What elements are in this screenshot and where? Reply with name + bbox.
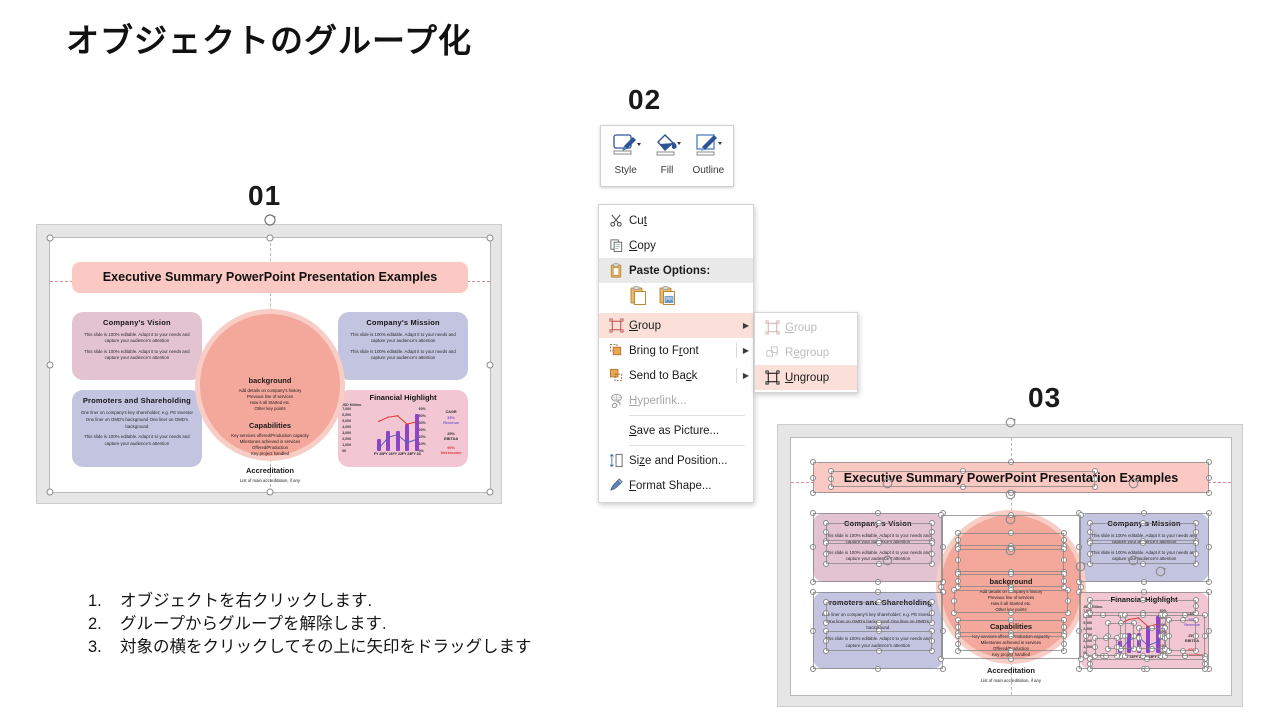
selection-handle[interactable]: [823, 520, 829, 526]
circle-section-heading: Accreditation: [987, 666, 1035, 675]
mini-toolbar-style-label: Style: [615, 165, 637, 176]
selection-handle[interactable]: [1092, 484, 1098, 490]
selection-handle[interactable]: [810, 475, 816, 481]
card-heading: Company's Mission: [345, 318, 461, 327]
rotate-handle[interactable]: [881, 554, 895, 568]
selection-handle[interactable]: [1114, 635, 1120, 641]
selection-handle[interactable]: [1149, 646, 1155, 652]
circle-section-lines: List of main accreditation, if any: [981, 678, 1041, 684]
group-submenu[interactable]: Group Regroup Ungroup: [754, 312, 858, 393]
selection-handle[interactable]: [828, 476, 834, 482]
context-menu-item-paste-options: Paste Options:: [599, 258, 753, 283]
rotate-handle[interactable]: [1004, 488, 1018, 502]
selection-handle[interactable]: [1061, 578, 1067, 584]
menu-separator: [629, 445, 745, 446]
selection-handle[interactable]: [823, 529, 829, 535]
selection-handle[interactable]: [929, 551, 935, 557]
selection-handle[interactable]: [1105, 620, 1111, 626]
selection-handle[interactable]: [47, 362, 54, 369]
clipboard-icon: [603, 263, 629, 279]
selection-handle[interactable]: [875, 589, 881, 595]
selection-handle[interactable]: [1193, 610, 1199, 616]
card-paragraph: This slide is 100% editable. Adapt it to…: [345, 349, 461, 362]
selection-handle[interactable]: [940, 666, 946, 672]
selection-handle[interactable]: [810, 579, 816, 585]
selection-handle[interactable]: [955, 641, 961, 647]
selection-handle[interactable]: [1122, 653, 1128, 659]
selection-handle[interactable]: [1182, 653, 1188, 659]
chart-legend-entry: 35%: [434, 416, 468, 420]
selection-handle[interactable]: [1105, 646, 1111, 652]
size-position-icon: [603, 453, 629, 468]
card-paragraph: This slide is 100% editable. Adapt it to…: [79, 349, 195, 362]
selection-handle[interactable]: [876, 540, 882, 546]
chevron-right-icon: ▶: [739, 346, 753, 355]
rotate-handle[interactable]: [1127, 477, 1141, 491]
menu-divider: [736, 368, 737, 383]
selection-handle[interactable]: [1008, 648, 1014, 654]
selection-handle[interactable]: [955, 578, 961, 584]
submenu-label-regroup: Regroup: [785, 347, 829, 359]
selection-handle[interactable]: [1092, 635, 1098, 641]
context-menu[interactable]: Cut Copy Paste Options:: [598, 204, 754, 503]
instruction-list: 1. オブジェクトを右クリックします. 2. グループからグループを解除します.…: [88, 590, 648, 658]
selection-handle[interactable]: [1140, 597, 1146, 603]
slide-thumbnail-ungrouped[interactable]: Executive Summary PowerPoint Presentatio…: [777, 424, 1243, 707]
chart-legend-entry: CAGR: [434, 410, 468, 414]
selection-handle[interactable]: [876, 520, 882, 526]
selection-handle[interactable]: [823, 561, 829, 567]
paste-options-row[interactable]: [599, 283, 753, 313]
selection-handle[interactable]: [1087, 597, 1093, 603]
selection-handle[interactable]: [1206, 490, 1212, 496]
selection-handle[interactable]: [810, 510, 816, 516]
selection-handle[interactable]: [1193, 561, 1199, 567]
list-item-number: 1.: [88, 590, 120, 613]
shape-style-icon: [611, 132, 641, 163]
card-heading: Promoters and Shareholding: [79, 396, 195, 405]
selection-handle[interactable]: [828, 468, 834, 474]
selection-handle[interactable]: [1061, 571, 1067, 577]
selection-handle[interactable]: [1206, 510, 1212, 516]
selection-handle[interactable]: [1061, 641, 1067, 647]
selection-handle[interactable]: [955, 633, 961, 639]
menu-divider: [736, 343, 737, 358]
selection-handle[interactable]: [955, 571, 961, 577]
selection-handle[interactable]: [823, 648, 829, 654]
selection-handle[interactable]: [955, 617, 961, 623]
list-item-text: オブジェクトを右クリックします.: [120, 590, 648, 613]
selection-handle[interactable]: [487, 362, 494, 369]
rotate-handle[interactable]: [1127, 554, 1141, 568]
format-shape-icon: [603, 478, 629, 493]
context-menu-label-paste-options: Paste Options:: [629, 265, 753, 277]
selection-handle[interactable]: [1114, 653, 1120, 659]
context-menu-label-hyperlink: Hyperlink...: [629, 395, 753, 407]
bring-front-icon: [603, 343, 629, 358]
selection-handle[interactable]: [929, 638, 935, 644]
selection-handle[interactable]: [876, 620, 882, 626]
selection-handle[interactable]: [1076, 666, 1082, 672]
selection-handle[interactable]: [1193, 648, 1199, 654]
selection-handle[interactable]: [938, 584, 944, 590]
selection-handle[interactable]: [929, 610, 935, 616]
selection-handle[interactable]: [1083, 612, 1089, 618]
selection-handle[interactable]: [875, 579, 881, 585]
slide-canvas: Executive Summary PowerPoint Presentatio…: [49, 237, 491, 493]
selection-handle[interactable]: [810, 589, 816, 595]
selection-handle[interactable]: [1092, 468, 1098, 474]
chart-legend-entry: 90%: [434, 446, 468, 450]
card-paragraph: This slide is 100% editable. Adapt it to…: [820, 636, 936, 649]
financial-chart: Financial HighlightUSD Million.001,0002,…: [338, 390, 468, 466]
chevron-right-icon: ▶: [739, 321, 753, 330]
submenu-label-group: Group: [785, 322, 817, 334]
selection-handle[interactable]: [1061, 546, 1067, 552]
card-company-mission[interactable]: Company's MissionThis slide is 100% edit…: [338, 312, 468, 381]
selection-handle[interactable]: [1202, 666, 1208, 672]
context-menu-item-save-as-picture[interactable]: Save as Picture...: [599, 418, 753, 443]
selection-handle[interactable]: [929, 648, 935, 654]
selection-handle[interactable]: [951, 610, 957, 616]
selection-handle[interactable]: [1100, 612, 1106, 618]
selection-handle[interactable]: [1206, 475, 1212, 481]
submenu-item-group: Group: [755, 315, 857, 340]
selection-handle[interactable]: [1206, 628, 1212, 634]
selection-handle[interactable]: [929, 520, 935, 526]
selection-handle[interactable]: [955, 546, 961, 552]
selection-handle[interactable]: [951, 587, 957, 593]
list-item-number: 2.: [88, 613, 120, 636]
selection-handle[interactable]: [955, 557, 961, 563]
list-item-text: 対象の横をクリックしてその上に矢印をドラッグします: [120, 636, 648, 659]
selection-handle[interactable]: [1193, 633, 1199, 639]
selection-handle[interactable]: [876, 599, 882, 605]
selection-handle[interactable]: [929, 561, 935, 567]
context-menu-item-cut[interactable]: Cut: [599, 208, 753, 233]
mini-toolbar-outline-label: Outline: [692, 165, 724, 176]
context-menu-item-size-and-position[interactable]: Size and Position...: [599, 448, 753, 473]
chart-legend-entry: EBITDA: [434, 437, 468, 441]
submenu-label-ungroup: Ungroup: [785, 372, 829, 384]
selection-handle[interactable]: [1008, 617, 1014, 623]
chart-legend-entry: Revenue: [434, 421, 468, 425]
selection-handle[interactable]: [1193, 540, 1199, 546]
circle-section-lines: List of main accreditation, if any: [240, 478, 300, 484]
selection-handle[interactable]: [876, 628, 882, 634]
selection-handle[interactable]: [955, 624, 961, 630]
circle-section-heading: Capabilities: [249, 421, 291, 430]
selection-handle[interactable]: [929, 540, 935, 546]
selection-handle[interactable]: [1061, 537, 1067, 543]
selection-handle[interactable]: [810, 544, 816, 550]
selection-handle[interactable]: [1083, 633, 1089, 639]
selection-handle[interactable]: [823, 620, 829, 626]
chart-legend-entry: Net Income: [434, 451, 468, 455]
selection-handle[interactable]: [1076, 589, 1082, 595]
selection-handle[interactable]: [955, 530, 961, 536]
selection-handle[interactable]: [1193, 617, 1199, 623]
context-menu-item-hyperlink: Hyperlink...: [599, 388, 753, 413]
selection-handle[interactable]: [1065, 598, 1071, 604]
selection-handle[interactable]: [1136, 646, 1142, 652]
selection-handle[interactable]: [1166, 648, 1172, 654]
selection-handle[interactable]: [1144, 656, 1150, 662]
context-menu-label-size-and-position: Size and Position...: [629, 455, 753, 467]
selection-handle[interactable]: [1103, 653, 1109, 659]
selection-handle[interactable]: [1114, 644, 1120, 650]
chart-legend-entry: Revenue: [1175, 623, 1209, 627]
mini-toolbar[interactable]: Style Fill Outline: [600, 125, 734, 187]
selection-handle[interactable]: [47, 489, 54, 496]
selection-handle[interactable]: [828, 484, 834, 490]
card-promoters-shareholding[interactable]: Promoters and ShareholdingOne liner on c…: [72, 390, 202, 466]
selection-handle[interactable]: [1206, 589, 1212, 595]
card-paragraph: This slide is 100% editable. Adapt it to…: [79, 434, 195, 447]
selection-handle[interactable]: [1076, 544, 1082, 550]
list-item-text: グループからグループを解除します.: [120, 613, 648, 636]
selection-handle[interactable]: [929, 620, 935, 626]
list-item: 3. 対象の横をクリックしてその上に矢印をドラッグします: [88, 636, 648, 659]
selection-handle[interactable]: [940, 544, 946, 550]
selection-handle[interactable]: [1008, 459, 1014, 465]
rotate-handle[interactable]: [263, 213, 277, 227]
paste-picture-icon[interactable]: [658, 286, 677, 311]
selection-handle[interactable]: [929, 599, 935, 605]
chart-title: Financial Highlight: [338, 390, 468, 402]
fill-bucket-icon: [652, 132, 682, 163]
selection-handle[interactable]: [940, 589, 946, 595]
selection-handle[interactable]: [955, 648, 961, 654]
regroup-icon: [759, 345, 785, 360]
selection-handle[interactable]: [1193, 603, 1199, 609]
selection-handle[interactable]: [1087, 520, 1093, 526]
selection-handle[interactable]: [810, 666, 816, 672]
selection-handle[interactable]: [1008, 610, 1014, 616]
selection-handle[interactable]: [1118, 620, 1124, 626]
selection-handle[interactable]: [823, 638, 829, 644]
scissors-icon: [603, 213, 629, 228]
selection-handle[interactable]: [487, 489, 494, 496]
selection-handle[interactable]: [1061, 648, 1067, 654]
selection-handle[interactable]: [929, 628, 935, 634]
send-back-icon: [603, 368, 629, 383]
selection-handle[interactable]: [955, 537, 961, 543]
submenu-item-regroup: Regroup: [755, 340, 857, 365]
selection-handle[interactable]: [1008, 656, 1014, 662]
rotate-handle[interactable]: [1004, 544, 1018, 558]
rotate-handle[interactable]: [1154, 565, 1168, 579]
slide-canvas-ungrouped: Executive Summary PowerPoint Presentatio…: [790, 437, 1232, 696]
context-menu-item-group[interactable]: Group ▶: [599, 313, 753, 338]
selection-handle[interactable]: [951, 598, 957, 604]
context-menu-item-bring-to-front[interactable]: Bring to Front ▶: [599, 338, 753, 363]
selection-handle[interactable]: [1061, 617, 1067, 623]
selection-handle[interactable]: [1141, 579, 1147, 585]
selection-handle[interactable]: [1180, 617, 1186, 623]
selection-handle[interactable]: [1202, 612, 1208, 618]
chevron-right-icon: ▶: [739, 371, 753, 380]
chart-plot-area: USD Million.001,0002,0003,0004,0005,0006…: [338, 402, 468, 464]
rotate-handle[interactable]: [1004, 513, 1018, 527]
selection-handle[interactable]: [1065, 610, 1071, 616]
selection-handle[interactable]: [1141, 589, 1147, 595]
center-circle-shape[interactable]: backgroundAdd details on company's histo…: [200, 314, 341, 456]
context-menu-item-send-to-back[interactable]: Send to Back ▶: [599, 363, 753, 388]
selection-handle[interactable]: [875, 666, 881, 672]
selection-handle[interactable]: [1122, 633, 1128, 639]
selection-handle[interactable]: [960, 468, 966, 474]
selection-handle[interactable]: [823, 540, 829, 546]
selection-handle[interactable]: [1103, 635, 1109, 641]
selection-handle[interactable]: [487, 235, 494, 242]
menu-separator: [629, 415, 745, 416]
submenu-item-ungroup[interactable]: Ungroup: [755, 365, 857, 390]
selection-handle[interactable]: [1206, 459, 1212, 465]
hyperlink-icon: [603, 393, 629, 408]
context-menu-label-send-to-back: Send to Back: [629, 370, 739, 382]
selection-handle[interactable]: [1061, 624, 1067, 630]
slide-thumbnail-grouped[interactable]: Executive Summary PowerPoint Presentatio…: [36, 224, 502, 504]
list-item: 2. グループからグループを解除します.: [88, 613, 648, 636]
selection-handle[interactable]: [47, 235, 54, 242]
card-paragraph: This slide is 100% editable. Adapt it to…: [345, 332, 461, 345]
selection-handle[interactable]: [876, 648, 882, 654]
selection-handle[interactable]: [823, 628, 829, 634]
page-title: オブジェクトのグループ化: [66, 14, 472, 62]
selection-handle[interactable]: [1087, 529, 1093, 535]
selection-handle[interactable]: [1087, 666, 1093, 672]
selection-handle[interactable]: [1122, 612, 1128, 618]
selection-handle[interactable]: [1087, 603, 1093, 609]
copy-icon: [603, 238, 629, 253]
step-number-03: 03: [1028, 382, 1061, 414]
selection-handle[interactable]: [1078, 584, 1084, 590]
circle-section-lines: Add details on company's historyPrevious…: [239, 388, 302, 413]
group-icon: [759, 320, 785, 335]
circle-section-heading: background: [249, 376, 292, 385]
selection-handle[interactable]: [267, 235, 274, 242]
selection-handle[interactable]: [1202, 633, 1208, 639]
mini-toolbar-outline-button[interactable]: Outline: [688, 132, 729, 176]
selection-handle[interactable]: [1166, 617, 1172, 623]
selection-handle[interactable]: [1206, 579, 1212, 585]
selection-handle[interactable]: [1166, 633, 1172, 639]
context-menu-label-bring-to-front: Bring to Front: [629, 345, 739, 357]
selection-handle[interactable]: [1008, 633, 1014, 639]
selection-handle[interactable]: [1076, 628, 1082, 634]
context-menu-label-format-shape: Format Shape...: [629, 480, 753, 492]
mini-toolbar-style-button[interactable]: Style: [605, 132, 646, 176]
selection-handle[interactable]: [1193, 551, 1199, 557]
selection-handle[interactable]: [1136, 635, 1142, 641]
context-menu-label-copy: Copy: [629, 240, 753, 252]
selection-handle[interactable]: [1149, 625, 1155, 631]
selection-handle[interactable]: [1061, 633, 1067, 639]
card-paragraph: This slide is 100% editable. Adapt it to…: [79, 332, 195, 345]
selection-handle[interactable]: [1008, 587, 1014, 593]
circle-section-heading: Accreditation: [246, 466, 294, 475]
selection-handle[interactable]: [1180, 648, 1186, 654]
selection-handle[interactable]: [1162, 653, 1168, 659]
ungroup-icon: [759, 370, 785, 385]
circle-section-lines: Key services offered/Production capacity…: [231, 433, 309, 458]
card-paragraph: One liner on company's key shareholder; …: [79, 410, 195, 430]
mini-toolbar-fill-button[interactable]: Fill: [646, 132, 687, 176]
selection-handle[interactable]: [1141, 510, 1147, 516]
mini-toolbar-fill-label: Fill: [661, 165, 674, 176]
paste-keep-formatting-icon[interactable]: [629, 286, 648, 311]
selection-handle[interactable]: [1087, 551, 1093, 557]
context-menu-label-group: Group: [629, 320, 739, 332]
selection-handle[interactable]: [1140, 520, 1146, 526]
selection-handle[interactable]: [1140, 540, 1146, 546]
selection-handle[interactable]: [1078, 512, 1084, 518]
selection-handle[interactable]: [823, 551, 829, 557]
group-icon: [603, 318, 629, 333]
selection-handle[interactable]: [823, 599, 829, 605]
selection-handle[interactable]: [1008, 571, 1014, 577]
selection-handle[interactable]: [1065, 587, 1071, 593]
selection-handle[interactable]: [1193, 520, 1199, 526]
selection-handle[interactable]: [810, 459, 816, 465]
step-number-01: 01: [248, 180, 281, 212]
selection-handle[interactable]: [267, 489, 274, 496]
card-financial-highlight[interactable]: Financial HighlightUSD Million.001,0002,…: [338, 390, 468, 466]
selection-handle[interactable]: [1092, 644, 1098, 650]
selection-handle[interactable]: [1144, 666, 1150, 672]
selection-handle[interactable]: [940, 628, 946, 634]
card-company-vision[interactable]: Company's VisionThis slide is 100% edita…: [72, 312, 202, 381]
selection-handle[interactable]: [1206, 544, 1212, 550]
selection-handle[interactable]: [938, 656, 944, 662]
selection-handle[interactable]: [1092, 653, 1098, 659]
selection-handle[interactable]: [1008, 530, 1014, 536]
context-menu-item-format-shape[interactable]: Format Shape...: [599, 473, 753, 498]
card-heading: Company's Vision: [79, 318, 195, 327]
selection-handle[interactable]: [1193, 597, 1199, 603]
context-menu-item-copy[interactable]: Copy: [599, 233, 753, 258]
selection-handle[interactable]: [1087, 540, 1093, 546]
selection-handle[interactable]: [1140, 612, 1146, 618]
rotate-handle[interactable]: [1004, 416, 1018, 430]
selection-handle[interactable]: [929, 529, 935, 535]
selection-handle[interactable]: [810, 628, 816, 634]
selection-handle[interactable]: [1193, 529, 1199, 535]
selection-handle[interactable]: [1061, 530, 1067, 536]
selection-handle[interactable]: [823, 610, 829, 616]
slide-title-shape[interactable]: Executive Summary PowerPoint Presentatio…: [72, 262, 468, 292]
list-item-number: 3.: [88, 636, 120, 659]
context-menu-label-save-as-picture: Save as Picture...: [629, 425, 753, 437]
rotate-handle[interactable]: [881, 477, 895, 491]
outline-pen-icon: [693, 132, 723, 163]
selection-handle[interactable]: [960, 484, 966, 490]
selection-handle[interactable]: [1162, 625, 1168, 631]
selection-handle[interactable]: [1061, 557, 1067, 563]
selection-handle[interactable]: [810, 490, 816, 496]
list-item: 1. オブジェクトを右クリックします.: [88, 590, 648, 613]
selection-handle[interactable]: [1136, 625, 1142, 631]
selection-handle[interactable]: [875, 510, 881, 516]
rotate-handle[interactable]: [1074, 560, 1088, 574]
selection-handle[interactable]: [1092, 476, 1098, 482]
step-number-02: 02: [628, 84, 661, 116]
context-menu-label-cut: Cut: [629, 215, 753, 227]
selection-handle[interactable]: [938, 512, 944, 518]
chart-legend-entry: EBITDA: [1175, 639, 1209, 643]
chart-legend-entry: 25%: [434, 432, 468, 436]
